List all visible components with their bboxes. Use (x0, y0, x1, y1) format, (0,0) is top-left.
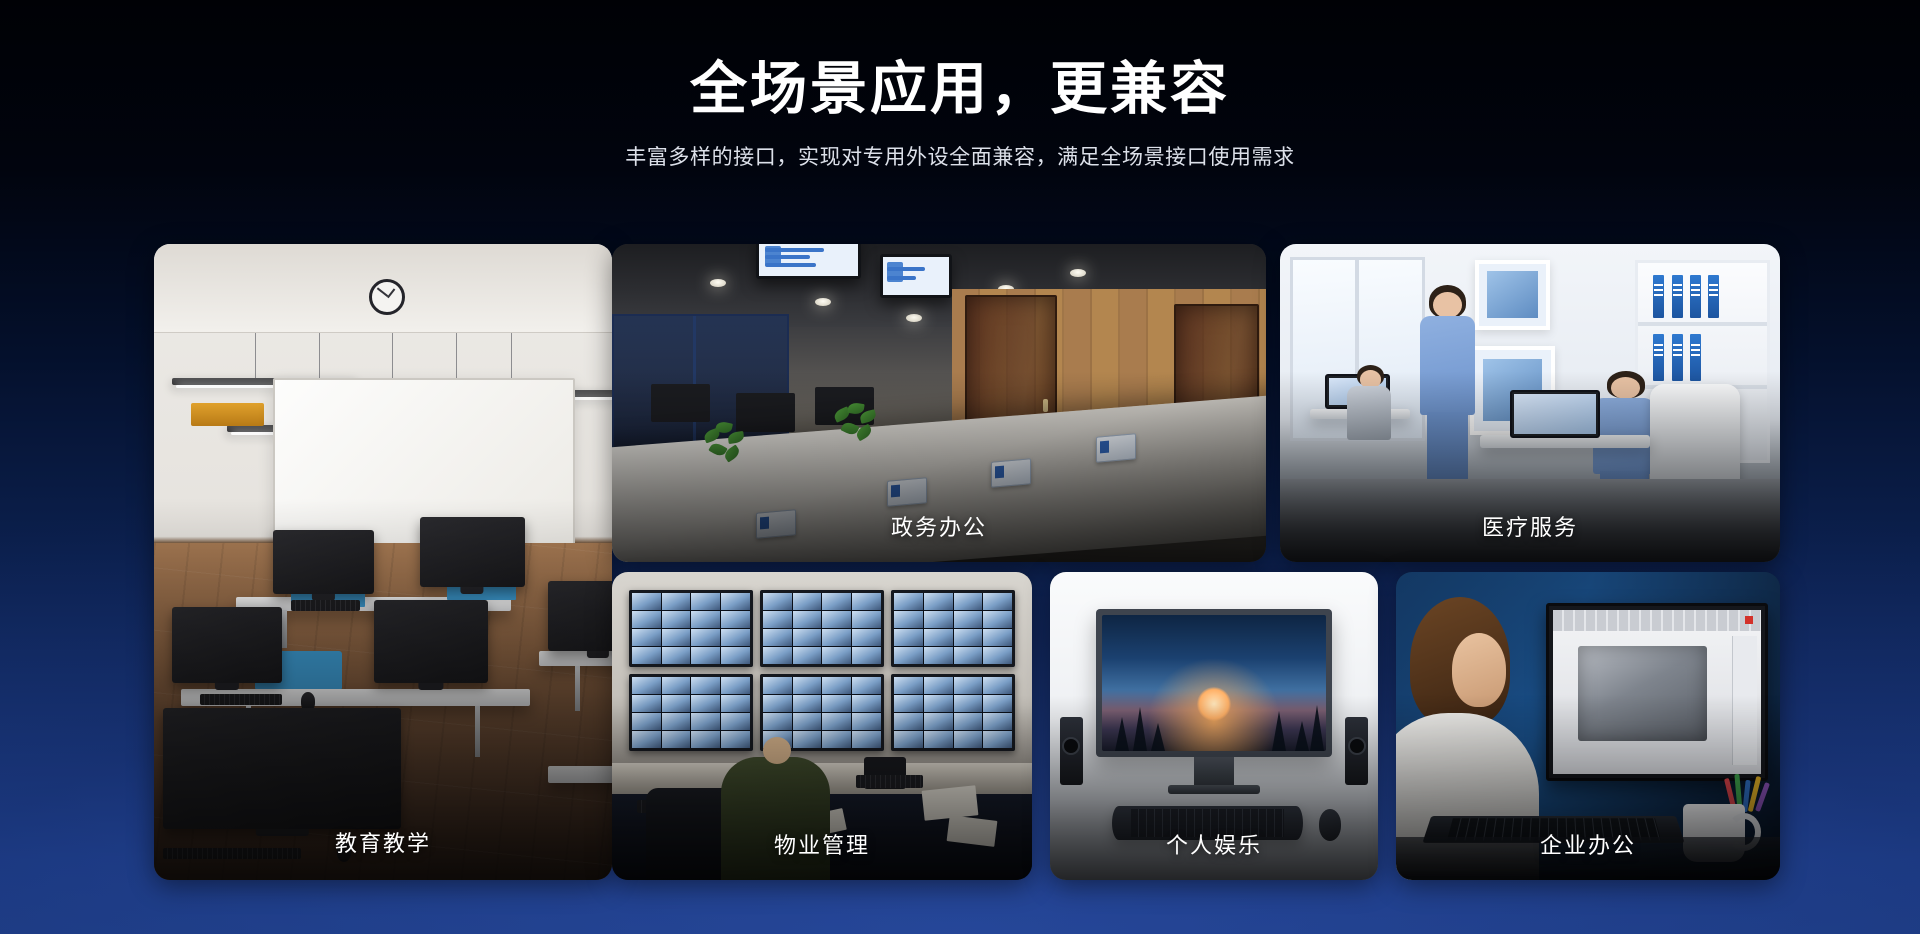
scenario-card-entertainment[interactable]: 个人娱乐 (1050, 572, 1378, 880)
scenario-card-education[interactable]: 教育教学 (154, 244, 612, 880)
scenario-card-government[interactable]: 政务办公 (612, 244, 1266, 562)
card-label-property: 物业管理 (612, 828, 1032, 860)
card-label-enterprise: 企业办公 (1396, 828, 1780, 860)
page-title: 全场景应用，更兼容 (0, 56, 1920, 123)
scenario-gallery: 教育教学 (0, 244, 1920, 880)
card-label-entertainment: 个人娱乐 (1050, 828, 1378, 860)
scenario-card-property[interactable]: 物业管理 (612, 572, 1032, 880)
page-header: 全场景应用，更兼容 丰富多样的接口，实现对专用外设全面兼容，满足全场景接口使用需… (0, 0, 1920, 171)
page-subtitle: 丰富多样的接口，实现对专用外设全面兼容，满足全场景接口使用需求 (0, 141, 1920, 171)
card-label-education: 教育教学 (154, 826, 612, 858)
scenario-card-medical[interactable]: 医疗服务 (1280, 244, 1780, 562)
card-label-medical: 医疗服务 (1280, 510, 1780, 542)
card-label-government: 政务办公 (612, 510, 1266, 542)
card-overlay (154, 244, 612, 880)
scenario-card-enterprise[interactable]: 企业办公 (1396, 572, 1780, 880)
